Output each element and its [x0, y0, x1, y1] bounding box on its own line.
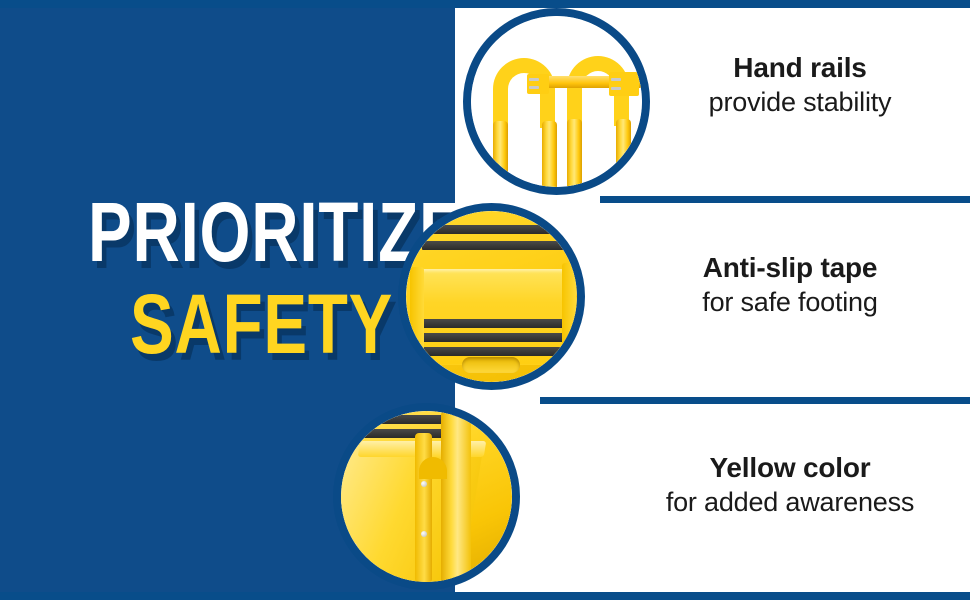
feature-text-yellow-color: Yellow color for added awareness — [620, 452, 960, 519]
yellow-body-illustration — [341, 411, 512, 582]
feature-subtitle-anti-slip-tape: for safe footing — [620, 286, 960, 318]
feature-text-hand-rails: Hand rails provide stability — [630, 52, 970, 119]
headline-line-prioritize: PRIORITIZE — [88, 196, 345, 270]
feature-text-anti-slip-tape: Anti-slip tape for safe footing — [620, 252, 960, 319]
bottom-accent-bar — [0, 592, 970, 600]
feature-photo-hand-rails — [463, 8, 650, 195]
feature-divider-1 — [600, 196, 970, 203]
headline-line-safety: SAFETY — [130, 288, 355, 362]
anti-slip-tape-illustration — [406, 211, 577, 382]
feature-title-yellow-color: Yellow color — [620, 452, 960, 483]
top-accent-bar — [0, 0, 970, 8]
feature-title-anti-slip-tape: Anti-slip tape — [620, 252, 960, 283]
headline-block: PRIORITIZE SAFETY — [88, 196, 418, 362]
feature-photo-yellow-color — [333, 403, 520, 590]
feature-divider-2 — [540, 397, 970, 404]
feature-photo-anti-slip-tape — [398, 203, 585, 390]
hand-rails-illustration — [471, 16, 642, 187]
infographic-banner: PRIORITIZE SAFETY — [0, 0, 970, 600]
feature-subtitle-hand-rails: provide stability — [630, 86, 970, 118]
feature-subtitle-yellow-color: for added awareness — [620, 486, 960, 518]
feature-title-hand-rails: Hand rails — [630, 52, 970, 83]
